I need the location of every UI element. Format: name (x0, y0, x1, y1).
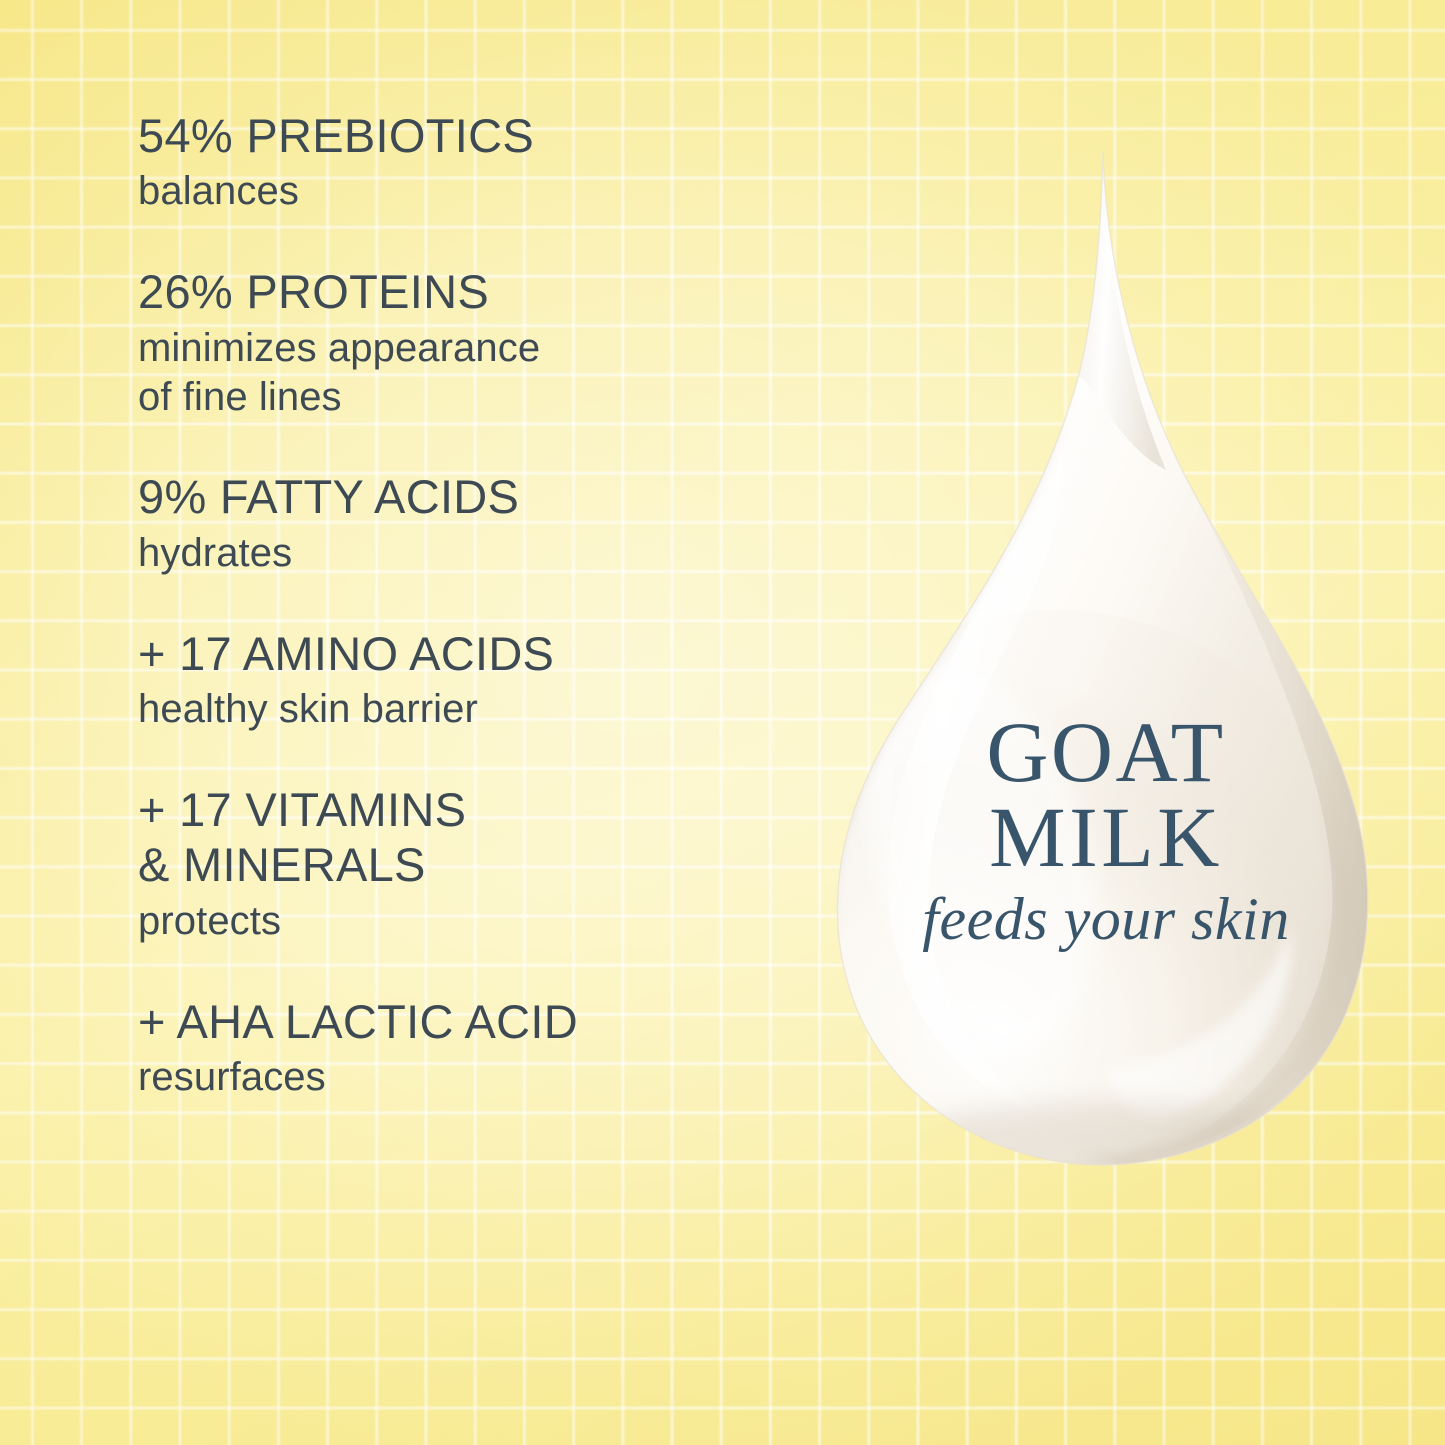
ingredient-benefit: hydrates (138, 529, 818, 578)
ingredient-title: 9% FATTY ACIDS (138, 469, 818, 524)
ingredient-item-prebiotics: 54% PREBIOTICS balances (138, 108, 818, 216)
milk-droplet-graphic: GOAT MILK feeds your skin (806, 140, 1406, 1180)
product-infographic: 54% PREBIOTICS balances 26% PROTEINS min… (0, 0, 1445, 1445)
ingredient-benefit: healthy skin barrier (138, 685, 818, 734)
ingredient-item-amino-acids: + 17 AMINO ACIDS healthy skin barrier (138, 626, 818, 734)
droplet-body (756, 152, 1369, 1218)
ingredient-title: 26% PROTEINS (138, 264, 818, 319)
ingredient-benefit: resurfaces (138, 1053, 818, 1102)
ingredient-benefit: protects (138, 897, 818, 946)
ingredient-title: 54% PREBIOTICS (138, 108, 818, 163)
ingredient-benefit: balances (138, 167, 818, 216)
ingredient-item-aha-lactic-acid: + AHA LACTIC ACID resurfaces (138, 994, 818, 1102)
ingredient-benefit: minimizes appearance of fine lines (138, 324, 818, 422)
milk-droplet-icon (806, 140, 1406, 1180)
ingredient-title: + 17 VITAMINS & MINERALS (138, 782, 818, 893)
ingredient-item-fatty-acids: 9% FATTY ACIDS hydrates (138, 469, 818, 577)
ingredient-title: + 17 AMINO ACIDS (138, 626, 818, 681)
ingredient-item-vitamins-minerals: + 17 VITAMINS & MINERALS protects (138, 782, 818, 946)
ingredient-item-proteins: 26% PROTEINS minimizes appearance of fin… (138, 264, 818, 421)
ingredient-list: 54% PREBIOTICS balances 26% PROTEINS min… (138, 108, 818, 1102)
ingredient-title: + AHA LACTIC ACID (138, 994, 818, 1049)
